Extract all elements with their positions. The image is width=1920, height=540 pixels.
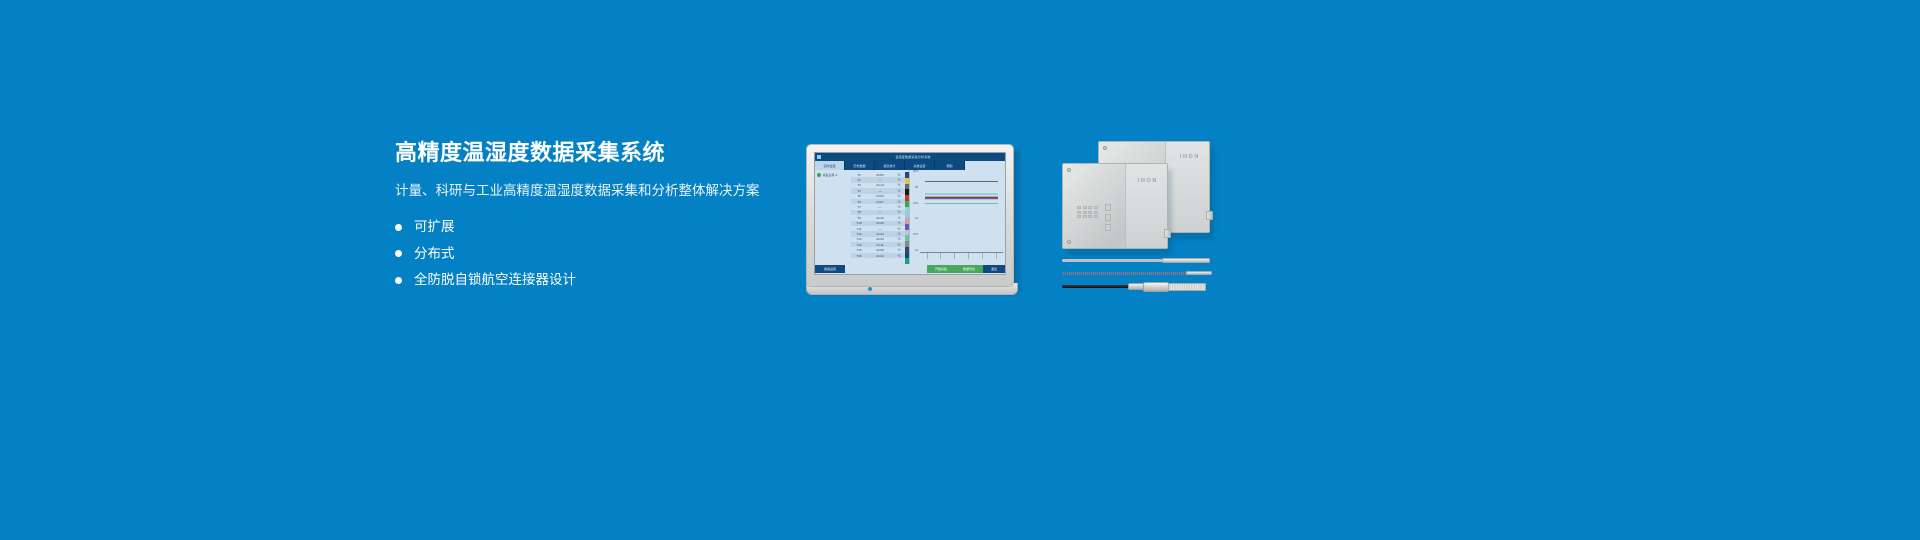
channel-id: T4 bbox=[851, 189, 867, 193]
y-axis-tick: 23 bbox=[915, 249, 918, 252]
channel-id: T6 bbox=[851, 200, 867, 204]
channel-id: T11 bbox=[851, 227, 867, 231]
channel-unit: ℃ bbox=[893, 189, 905, 193]
chart-plot-area bbox=[920, 172, 1003, 252]
table-row[interactable]: T924.36℃ bbox=[851, 215, 905, 220]
probe-cable bbox=[1062, 259, 1166, 262]
channel-unit: ℃ bbox=[893, 200, 905, 204]
channel-unit: ℃ bbox=[893, 254, 905, 258]
probe-cable bbox=[1062, 272, 1190, 275]
port-group bbox=[1105, 204, 1111, 231]
chart-x-axis bbox=[920, 252, 1003, 259]
probe-tip bbox=[1162, 258, 1210, 263]
channel-table: T123.81℃T2----℃T324.14℃T4----℃T524.02℃T6… bbox=[851, 170, 905, 264]
aviation-connector-icon bbox=[1206, 211, 1213, 220]
list-item: 全防脱自锁航空连接器设计 bbox=[395, 273, 815, 287]
channel-id: T1 bbox=[851, 173, 867, 177]
brand-label: INON bbox=[1138, 178, 1158, 184]
channel-id: T14 bbox=[851, 243, 867, 247]
probe-cable bbox=[1062, 285, 1132, 288]
brand-label: INON bbox=[1180, 154, 1200, 160]
tab-settings[interactable]: 系统设置 bbox=[905, 161, 935, 170]
table-row[interactable]: T11----℃ bbox=[851, 226, 905, 231]
channel-value: ---- bbox=[867, 210, 893, 214]
tab-realtime[interactable]: 实时监控 bbox=[815, 161, 845, 170]
feature-list: 可扩展 分布式 全防脱自锁航空连接器设计 bbox=[395, 220, 815, 287]
table-row[interactable]: T1424.11℃ bbox=[851, 242, 905, 247]
feature-label: 可扩展 bbox=[414, 220, 455, 234]
channel-value: ---- bbox=[867, 178, 893, 182]
channel-value: ---- bbox=[867, 189, 893, 193]
y-axis-tick: 24.5 bbox=[913, 202, 918, 205]
x-axis-tick bbox=[996, 253, 997, 259]
channel-unit: ℃ bbox=[893, 173, 905, 177]
channel-value: 23.94 bbox=[867, 232, 893, 236]
y-axis-tick: 25.5 bbox=[913, 170, 918, 173]
table-row[interactable]: T8----℃ bbox=[851, 210, 905, 215]
table-row[interactable]: T4----℃ bbox=[851, 188, 905, 193]
channel-unit: ℃ bbox=[893, 243, 905, 247]
channel-id: T7 bbox=[851, 205, 867, 209]
tab-reports[interactable]: 报表统计 bbox=[875, 161, 905, 170]
exit-button[interactable]: 退出 bbox=[983, 265, 1005, 273]
x-axis-tick bbox=[954, 253, 955, 259]
channel-value: 24.08 bbox=[867, 221, 893, 225]
channel-id: T12 bbox=[851, 232, 867, 236]
tab-help[interactable]: 帮助 bbox=[935, 161, 965, 170]
table-row[interactable]: T2----℃ bbox=[851, 177, 905, 182]
channel-value: 24.36 bbox=[867, 216, 893, 220]
channel-id: T9 bbox=[851, 216, 867, 220]
monitor-screen: 温湿度数据采集分析系统 实时监控 历史数据 报表统计 系统设置 帮助 采集主机-… bbox=[814, 152, 1006, 275]
channel-id: T3 bbox=[851, 183, 867, 187]
tabbar-filler bbox=[965, 161, 1005, 170]
channel-value: 24.11 bbox=[867, 243, 893, 247]
tree-node-host[interactable]: 采集主机-1 bbox=[817, 173, 849, 177]
monitor-bezel: 温湿度数据采集分析系统 实时监控 历史数据 报表统计 系统设置 帮助 采集主机-… bbox=[806, 144, 1014, 287]
table-row[interactable]: T123.81℃ bbox=[851, 172, 905, 177]
channel-unit: ℃ bbox=[893, 237, 905, 241]
screw-icon bbox=[1067, 168, 1071, 172]
chart-series-line bbox=[925, 203, 998, 204]
chart-series-line bbox=[925, 199, 998, 200]
channel-id: T15 bbox=[851, 248, 867, 252]
channel-unit: ℃ bbox=[893, 210, 905, 214]
channel-value: 24.20 bbox=[867, 237, 893, 241]
bullet-dot-icon bbox=[395, 224, 402, 231]
channel-id: T8 bbox=[851, 210, 867, 214]
page-subtitle: 计量、科研与工业高精度温湿度数据采集和分析整体解决方案 bbox=[395, 182, 815, 201]
channel-unit: ℃ bbox=[893, 227, 905, 231]
channel-value: 23.94 bbox=[867, 254, 893, 258]
power-led-icon bbox=[868, 287, 872, 291]
channel-value: 24.02 bbox=[867, 194, 893, 198]
channel-id: T2 bbox=[851, 178, 867, 182]
start-acquisition-button[interactable]: 开始采集 bbox=[927, 265, 955, 273]
copy-block: 高精度温湿度数据采集系统 计量、科研与工业高精度温湿度数据采集和分析整体解决方案… bbox=[395, 140, 815, 300]
channel-config-button[interactable]: 通道设置 bbox=[815, 265, 845, 273]
terminal-block-grid bbox=[1077, 206, 1098, 218]
x-axis-tick bbox=[968, 253, 969, 259]
enclosure-lid-panel bbox=[1125, 164, 1167, 248]
channel-value: 23.81 bbox=[867, 173, 893, 177]
x-axis-tick bbox=[940, 253, 941, 259]
app-title: 温湿度数据采集分析系统 bbox=[823, 155, 1003, 159]
table-row[interactable]: T1324.20℃ bbox=[851, 237, 905, 242]
y-axis-tick: 23.5 bbox=[913, 233, 918, 236]
status-ok-icon bbox=[817, 173, 821, 177]
table-row[interactable]: T623.87℃ bbox=[851, 199, 905, 204]
aviation-connector-icon bbox=[1164, 229, 1171, 238]
app-logo-icon bbox=[817, 155, 821, 159]
screw-icon bbox=[1103, 146, 1107, 150]
trend-chart: 25.52524.52423.523 bbox=[909, 170, 1005, 264]
channel-unit: ℃ bbox=[893, 178, 905, 182]
channel-unit: ℃ bbox=[893, 183, 905, 187]
feature-label: 分布式 bbox=[414, 247, 455, 261]
probe-group bbox=[1062, 255, 1214, 297]
x-axis-tick bbox=[927, 253, 928, 259]
connector-ferrule bbox=[1128, 283, 1144, 290]
bullet-dot-icon bbox=[395, 277, 402, 284]
channel-unit: ℃ bbox=[893, 232, 905, 236]
page-title: 高精度温湿度数据采集系统 bbox=[395, 140, 815, 166]
y-axis-tick: 25 bbox=[915, 186, 918, 189]
table-row[interactable]: T1024.08℃ bbox=[851, 221, 905, 226]
channel-value: 23.98 bbox=[867, 248, 893, 252]
list-item: 分布式 bbox=[395, 247, 815, 261]
screw-icon bbox=[1067, 240, 1071, 244]
tree-node-label: 采集主机-1 bbox=[823, 173, 838, 177]
panel-monitor: 温湿度数据采集分析系统 实时监控 历史数据 报表统计 系统设置 帮助 采集主机-… bbox=[806, 144, 1020, 294]
chart-series-line bbox=[925, 181, 998, 182]
bullet-dot-icon bbox=[395, 250, 402, 257]
channel-unit: ℃ bbox=[893, 216, 905, 220]
table-row[interactable]: T1223.94℃ bbox=[851, 231, 905, 236]
channel-unit: ℃ bbox=[893, 194, 905, 198]
channel-unit: ℃ bbox=[893, 248, 905, 252]
channel-value: ---- bbox=[867, 227, 893, 231]
feature-label: 全防脱自锁航空连接器设计 bbox=[414, 273, 576, 287]
channel-value: 23.87 bbox=[867, 200, 893, 204]
app-bottom-bar: 通道设置 开始采集 数据导出 退出 bbox=[815, 264, 1005, 274]
list-item: 可扩展 bbox=[395, 220, 815, 234]
table-row[interactable]: T1623.94℃ bbox=[851, 253, 905, 258]
channel-id: T16 bbox=[851, 254, 867, 258]
channel-id: T5 bbox=[851, 194, 867, 198]
channel-unit: ℃ bbox=[893, 205, 905, 209]
table-row[interactable]: T1523.98℃ bbox=[851, 247, 905, 252]
table-row[interactable]: T524.02℃ bbox=[851, 194, 905, 199]
app-body: 采集主机-1 T123.81℃T2----℃T324.14℃T4----℃T52… bbox=[815, 170, 1005, 264]
channel-unit: ℃ bbox=[893, 221, 905, 225]
tab-history[interactable]: 历史数据 bbox=[845, 161, 875, 170]
data-logger-enclosure-front: INON bbox=[1062, 163, 1168, 249]
table-row[interactable]: T324.14℃ bbox=[851, 183, 905, 188]
app-tabbar: 实时监控 历史数据 报表统计 系统设置 帮助 bbox=[815, 161, 1005, 170]
x-axis-tick bbox=[982, 253, 983, 259]
export-data-button[interactable]: 数据导出 bbox=[955, 265, 983, 273]
aviation-connector-body bbox=[1143, 282, 1169, 292]
promo-banner: 高精度温湿度数据采集系统 计量、科研与工业高精度温湿度数据采集和分析整体解决方案… bbox=[0, 0, 1920, 540]
y-axis-tick: 24 bbox=[915, 217, 918, 220]
app-titlebar: 温湿度数据采集分析系统 bbox=[815, 153, 1005, 161]
probe-tip bbox=[1186, 271, 1212, 275]
chart-y-axis: 25.52524.52423.523 bbox=[910, 170, 919, 252]
table-row[interactable]: T7----℃ bbox=[851, 204, 905, 209]
connector-knurled-grip bbox=[1168, 283, 1206, 291]
channel-id: T10 bbox=[851, 221, 867, 225]
channel-id: T13 bbox=[851, 237, 867, 241]
channel-value: ---- bbox=[867, 205, 893, 209]
channel-value: 24.14 bbox=[867, 183, 893, 187]
device-tree-pane: 采集主机-1 bbox=[815, 170, 851, 264]
